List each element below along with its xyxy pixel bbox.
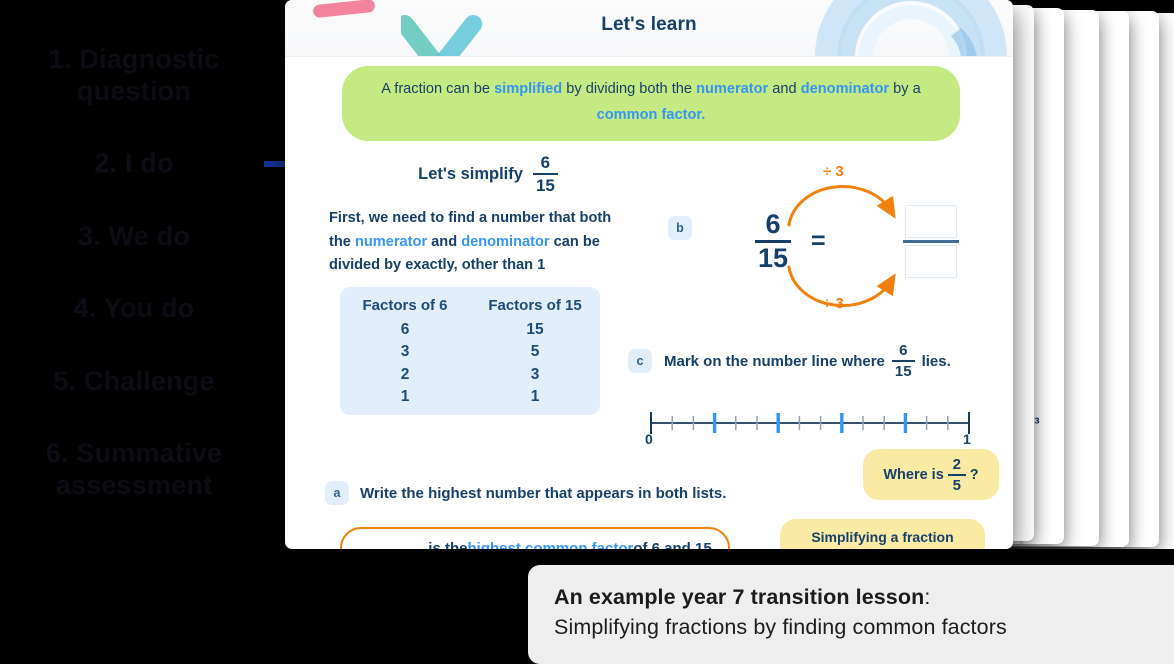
banner-highlight-simplified: simplified (494, 81, 562, 97)
factors-value: 1 (470, 386, 600, 408)
sidebar-item-label: 1. Diagnostic question (49, 44, 220, 106)
screenshot-root: 1. Diagnostic question 2. I do 3. We do … (0, 0, 1174, 664)
intro-paragraph: First, we need to find a number that bot… (329, 207, 629, 278)
factors-table: Factors of 6 6 3 2 1 Factors of 15 15 5 … (340, 287, 600, 415)
hcf-answer-blank[interactable] (358, 547, 420, 549)
part-c-badge: c (628, 349, 652, 373)
banner-highlight-common-factor: common factor. (597, 107, 706, 123)
part-b-equation: 6 15 = ÷ 3 ÷ 3 (715, 185, 975, 310)
sidebar-item-diagnostic-question[interactable]: 1. Diagnostic question (4, 44, 264, 108)
divide-by-three-top-label: ÷ 3 (823, 163, 844, 180)
fraction-denominator: 5 (950, 478, 964, 493)
sidebar-item-we-do[interactable]: 3. We do (4, 221, 264, 253)
factors-value: 5 (470, 341, 600, 363)
callout-line-2: does not change its value. (795, 547, 970, 549)
fraction-two-fifths: 2 5 (948, 457, 966, 493)
sidebar-item-i-do[interactable]: 2. I do (4, 148, 264, 180)
fraction-bar (948, 474, 966, 476)
sidebar-item-label: 3. We do (78, 221, 190, 251)
part-c-prompt-text-2: lies. (922, 353, 951, 370)
factors-value: 1 (340, 386, 470, 408)
divide-arrows-icon (783, 181, 923, 311)
factors-column-header: Factors of 6 (340, 297, 470, 314)
banner-highlight-numerator: numerator (696, 81, 768, 97)
hcf-text-2: of 6 and 15 (633, 540, 711, 550)
part-c-row: c Mark on the number line where 6 15 lie… (628, 343, 951, 379)
factors-column-15: Factors of 15 15 5 3 1 (470, 287, 600, 415)
fraction-denominator: 15 (892, 364, 915, 379)
banner-text-2: by dividing both the (562, 81, 696, 97)
slide-header: Let's learn (285, 0, 1013, 57)
definition-banner: A fraction can be simplified by dividing… (342, 66, 960, 141)
part-c-prompt: Mark on the number line where 6 15 lies. (664, 343, 951, 379)
intro-highlight-numerator: numerator (355, 234, 427, 250)
hcf-text-1: is the (428, 540, 467, 550)
banner-text-3: and (768, 81, 800, 97)
intro-text-2: and (427, 234, 461, 250)
factors-value: 2 (340, 364, 470, 386)
sidebar-item-summative-assessment[interactable]: 6. Summative assessment (4, 438, 264, 502)
fraction-numerator: 6 (763, 211, 784, 238)
fraction-six-fifteenths-c: 6 15 (892, 343, 915, 379)
fraction-numerator: 2 (950, 457, 964, 472)
caption-line-1-bold: An example year 7 transition lesson (554, 585, 924, 609)
callout-suffix: ? (970, 467, 979, 483)
caption-line-1: An example year 7 transition lesson: (554, 585, 1148, 610)
intro-highlight-denominator: denominator (461, 234, 549, 250)
sidebar-item-label: 6. Summative assessment (46, 438, 222, 500)
part-b-badge: b (668, 216, 692, 240)
lets-simplify-line: Let's simplify 6 15 (323, 154, 653, 194)
hcf-answer-pill[interactable]: is the highest common factor of 6 and 15 (340, 527, 730, 549)
hcf-highlight: highest common factor (467, 540, 633, 550)
callout-prefix: Where is (883, 467, 943, 483)
number-line-start-label: 0 (645, 431, 653, 447)
sidebar-item-you-do[interactable]: 4. You do (4, 293, 264, 325)
part-a-badge: a (325, 481, 349, 505)
fraction-bar (892, 360, 915, 362)
number-line-end-label: 1 (963, 431, 971, 447)
callout-simplifying-value: Simplifying a fraction does not change i… (780, 519, 985, 549)
factors-value: 3 (470, 364, 600, 386)
fraction-numerator: 6 (538, 154, 553, 171)
lets-simplify-label: Let's simplify (418, 165, 523, 184)
lesson-step-sidebar: 1. Diagnostic question 2. I do 3. We do … (0, 30, 268, 520)
banner-text-1: A fraction can be (381, 81, 494, 97)
factors-value: 3 (340, 341, 470, 363)
caption-colon: : (924, 585, 930, 609)
factors-value: 6 (340, 319, 470, 341)
sidebar-item-label: 2. I do (94, 148, 173, 178)
lesson-slide[interactable]: Let's learn A fraction can be simplified… (285, 0, 1013, 549)
sidebar-item-label: 5. Challenge (53, 366, 214, 396)
banner-highlight-denominator: denominator (801, 81, 889, 97)
fraction-bar (533, 173, 558, 175)
part-a-row: a Write the highest number that appears … (325, 481, 726, 505)
part-c-prompt-text-1: Mark on the number line where (664, 353, 885, 370)
sidebar-item-challenge[interactable]: 5. Challenge (4, 366, 264, 398)
banner-text-4: by a (889, 81, 921, 97)
callout-where-is-two-fifths: Where is 2 5 ? (863, 449, 999, 500)
part-a-prompt: Write the highest number that appears in… (360, 485, 726, 502)
slide-body: A fraction can be simplified by dividing… (285, 57, 1013, 549)
figure-caption: An example year 7 transition lesson: Sim… (528, 565, 1174, 664)
sidebar-item-label: 4. You do (74, 293, 195, 323)
factors-column-header: Factors of 15 (470, 297, 600, 314)
fraction-denominator: 15 (533, 177, 558, 194)
number-line-svg (645, 405, 975, 451)
fraction-numerator: 6 (896, 343, 910, 358)
fraction-six-fifteenths: 6 15 (533, 154, 558, 194)
factors-column-6: Factors of 6 6 3 2 1 (340, 287, 470, 415)
callout-line-1: Simplifying a fraction (795, 527, 970, 547)
slide-title: Let's learn (285, 14, 1013, 36)
caption-line-2: Simplifying fractions by finding common … (554, 615, 1148, 640)
factors-value: 15 (470, 319, 600, 341)
